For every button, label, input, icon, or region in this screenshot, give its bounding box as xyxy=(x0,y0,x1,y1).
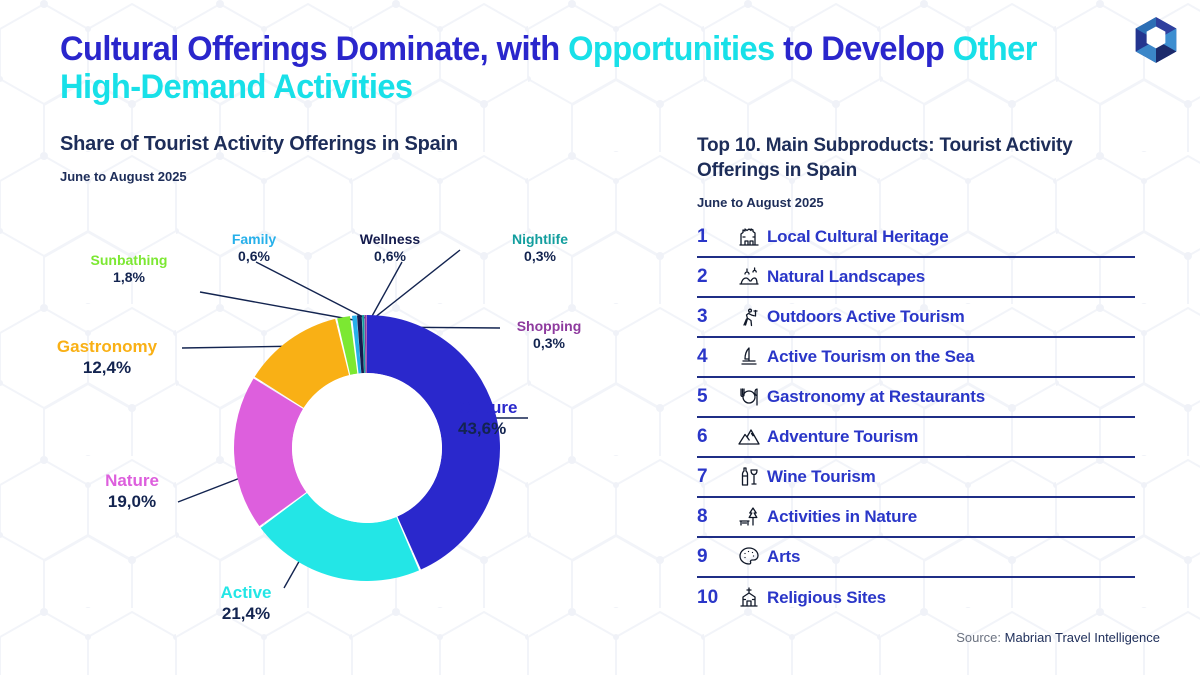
landscape-icon xyxy=(731,265,767,289)
top10-row[interactable]: 2Natural Landscapes xyxy=(697,258,1135,298)
top10-row[interactable]: 3Outdoors Active Tourism xyxy=(697,298,1135,338)
right-panel-subtitle: June to August 2025 xyxy=(697,195,824,210)
top10-row[interactable]: 1Local Cultural Heritage xyxy=(697,218,1135,258)
right-panel-title: Top 10. Main Subproducts: Tourist Activi… xyxy=(697,133,1137,184)
rank-number: 9 xyxy=(697,546,731,568)
rank-number: 5 xyxy=(697,386,731,408)
donut-hole xyxy=(292,373,442,523)
top10-row[interactable]: 4Active Tourism on the Sea xyxy=(697,338,1135,378)
top10-row[interactable]: 8Activities in Nature xyxy=(697,498,1135,538)
slice-label-shopping: Shopping 0,3% xyxy=(500,318,598,352)
rank-label: Activities in Nature xyxy=(767,507,917,527)
slice-label-family: Family 0,6% xyxy=(203,231,305,265)
windsurf-icon xyxy=(731,345,767,369)
donut-chart xyxy=(234,315,500,581)
top10-row[interactable]: 6Adventure Tourism xyxy=(697,418,1135,458)
top10-row[interactable]: 9Arts xyxy=(697,538,1135,578)
rank-number: 10 xyxy=(697,587,731,609)
castle-icon xyxy=(731,225,767,249)
top10-row[interactable]: 10Religious Sites xyxy=(697,578,1135,618)
rank-number: 4 xyxy=(697,346,731,368)
mountains-icon xyxy=(731,425,767,449)
rank-number: 3 xyxy=(697,306,731,328)
rank-number: 2 xyxy=(697,266,731,288)
slice-label-culture: Culture 43,6% xyxy=(458,398,518,439)
rank-label: Outdoors Active Tourism xyxy=(767,307,965,327)
rank-label: Adventure Tourism xyxy=(767,427,918,447)
mabrian-hexagon-logo xyxy=(1130,14,1182,66)
plate-cutlery-icon xyxy=(731,385,767,409)
rank-label: Wine Tourism xyxy=(767,467,876,487)
slice-label-gastronomy: Gastronomy 12,4% xyxy=(32,337,182,378)
rank-label: Active Tourism on the Sea xyxy=(767,347,974,367)
rank-number: 1 xyxy=(697,226,731,248)
rank-label: Local Cultural Heritage xyxy=(767,227,949,247)
rank-number: 8 xyxy=(697,506,731,528)
church-icon xyxy=(731,586,767,610)
tree-picnic-icon xyxy=(731,505,767,529)
hiker-icon xyxy=(731,305,767,329)
slice-label-wellness: Wellness 0,6% xyxy=(338,231,442,265)
slice-label-nightlife: Nightlife 0,3% xyxy=(490,231,590,265)
headline-segment-3: to Develop xyxy=(783,30,953,68)
top10-row[interactable]: 7Wine Tourism xyxy=(697,458,1135,498)
rank-label: Religious Sites xyxy=(767,588,886,608)
top10-list: 1Local Cultural Heritage2Natural Landsca… xyxy=(697,218,1135,618)
top10-row[interactable]: 5Gastronomy at Restaurants xyxy=(697,378,1135,418)
rank-label: Arts xyxy=(767,547,800,567)
wine-bottle-glass-icon xyxy=(731,465,767,489)
rank-label: Natural Landscapes xyxy=(767,267,925,287)
slice-label-active: Active 21,4% xyxy=(186,583,306,624)
rank-number: 7 xyxy=(697,466,731,488)
source-note: Source: Mabrian Travel Intelligence xyxy=(956,630,1160,645)
donut-chart-svg xyxy=(234,315,500,581)
slice-label-nature: Nature 19,0% xyxy=(72,471,192,512)
rank-label: Gastronomy at Restaurants xyxy=(767,387,985,407)
source-company: Mabrian Travel Intelligence xyxy=(1005,630,1160,645)
rank-number: 6 xyxy=(697,426,731,448)
slice-label-sunbathing: Sunbathing 1,8% xyxy=(68,252,190,286)
source-prefix: Source: xyxy=(956,630,1004,645)
palette-icon xyxy=(731,545,767,569)
